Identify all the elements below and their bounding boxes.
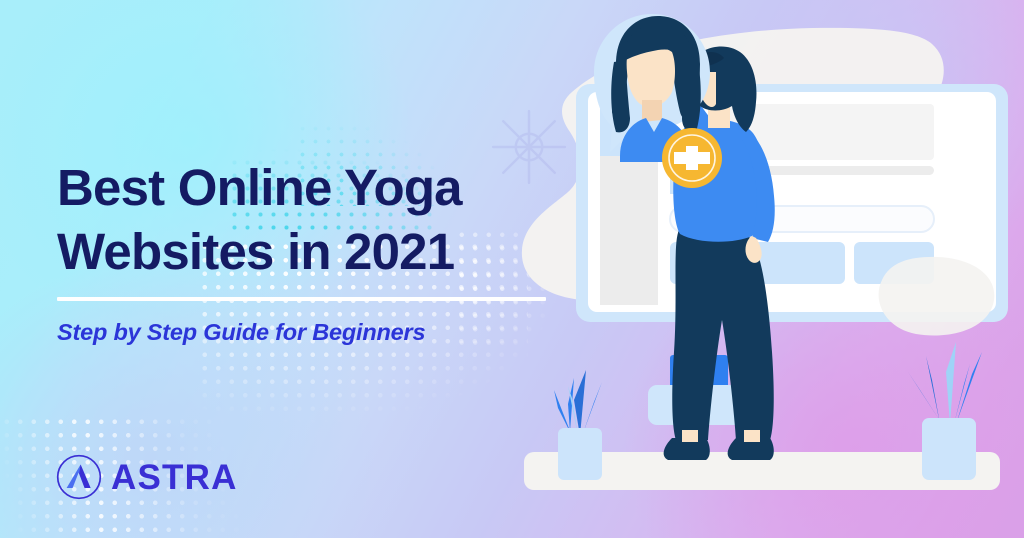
- page-title: Best Online Yoga Websites in 2021: [57, 156, 557, 285]
- brand-wordmark: ASTRA: [111, 460, 238, 495]
- woman-at-large-screen-illustration: [512, 0, 1024, 538]
- background-blob-lower: [879, 257, 995, 336]
- plus-badge: [662, 128, 722, 188]
- plant-left: [554, 370, 602, 480]
- hero-illustration: [512, 0, 1024, 538]
- headline-block: Best Online Yoga Websites in 2021 Step b…: [57, 156, 557, 346]
- brand-logo[interactable]: ASTRA: [56, 454, 238, 500]
- page-subtitle: Step by Step Guide for Beginners: [57, 301, 557, 346]
- promo-banner: Best Online Yoga Websites in 2021 Step b…: [0, 0, 1024, 538]
- screen-sidebar: [600, 150, 658, 305]
- astra-a-monogram-icon: [56, 454, 102, 500]
